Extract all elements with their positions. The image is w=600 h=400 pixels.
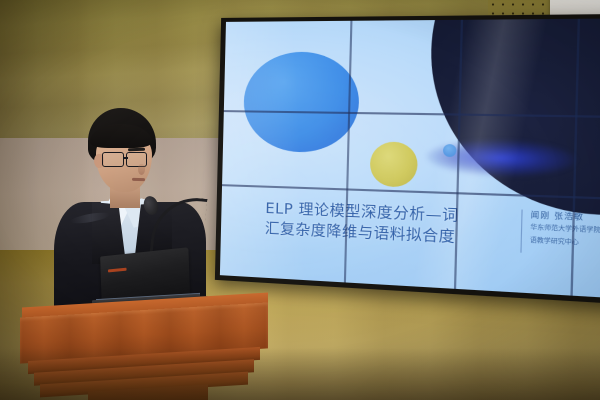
glasses-lens-left-icon bbox=[102, 152, 124, 167]
slide-credit-block: 闻刚 张浩敏 华东师范大学外语学院 外 语教学研究中心 bbox=[530, 210, 600, 250]
video-wall-frame: ELP 理论模型深度分析—词 汇复杂度降维与语料拟合度 闻刚 张浩敏 华东师范大… bbox=[215, 14, 600, 305]
laptop-logo-icon bbox=[108, 268, 127, 273]
slide-credit-org-line-1: 华东师范大学外语学院 外 bbox=[530, 224, 600, 238]
video-wall: ELP 理论模型深度分析—词 汇复杂度降维与语料拟合度 闻刚 张浩敏 华东师范大… bbox=[215, 14, 600, 305]
slide-title: ELP 理论模型深度分析—词 汇复杂度降维与语料拟合度 bbox=[265, 199, 515, 251]
glasses-bridge-icon bbox=[123, 157, 128, 159]
slide-shape-yellow-circle bbox=[370, 141, 418, 187]
slide-credit-org-line-2: 语教学研究中心 bbox=[530, 236, 600, 250]
slide-credit-divider bbox=[520, 209, 522, 252]
floor-shadow bbox=[0, 348, 600, 400]
speaker-nose bbox=[138, 164, 145, 175]
video-wall-screen: ELP 理论模型深度分析—词 汇复杂度降维与语料拟合度 闻刚 张浩敏 华东师范大… bbox=[220, 18, 600, 299]
slide-shape-blue-circle bbox=[243, 52, 360, 154]
slide-credit-authors: 闻刚 张浩敏 bbox=[530, 210, 600, 225]
speaker-mouth bbox=[132, 178, 145, 181]
presentation-photo-scene: ELP 理论模型深度分析—词 汇复杂度降维与语料拟合度 闻刚 张浩敏 华东师范大… bbox=[0, 0, 600, 400]
